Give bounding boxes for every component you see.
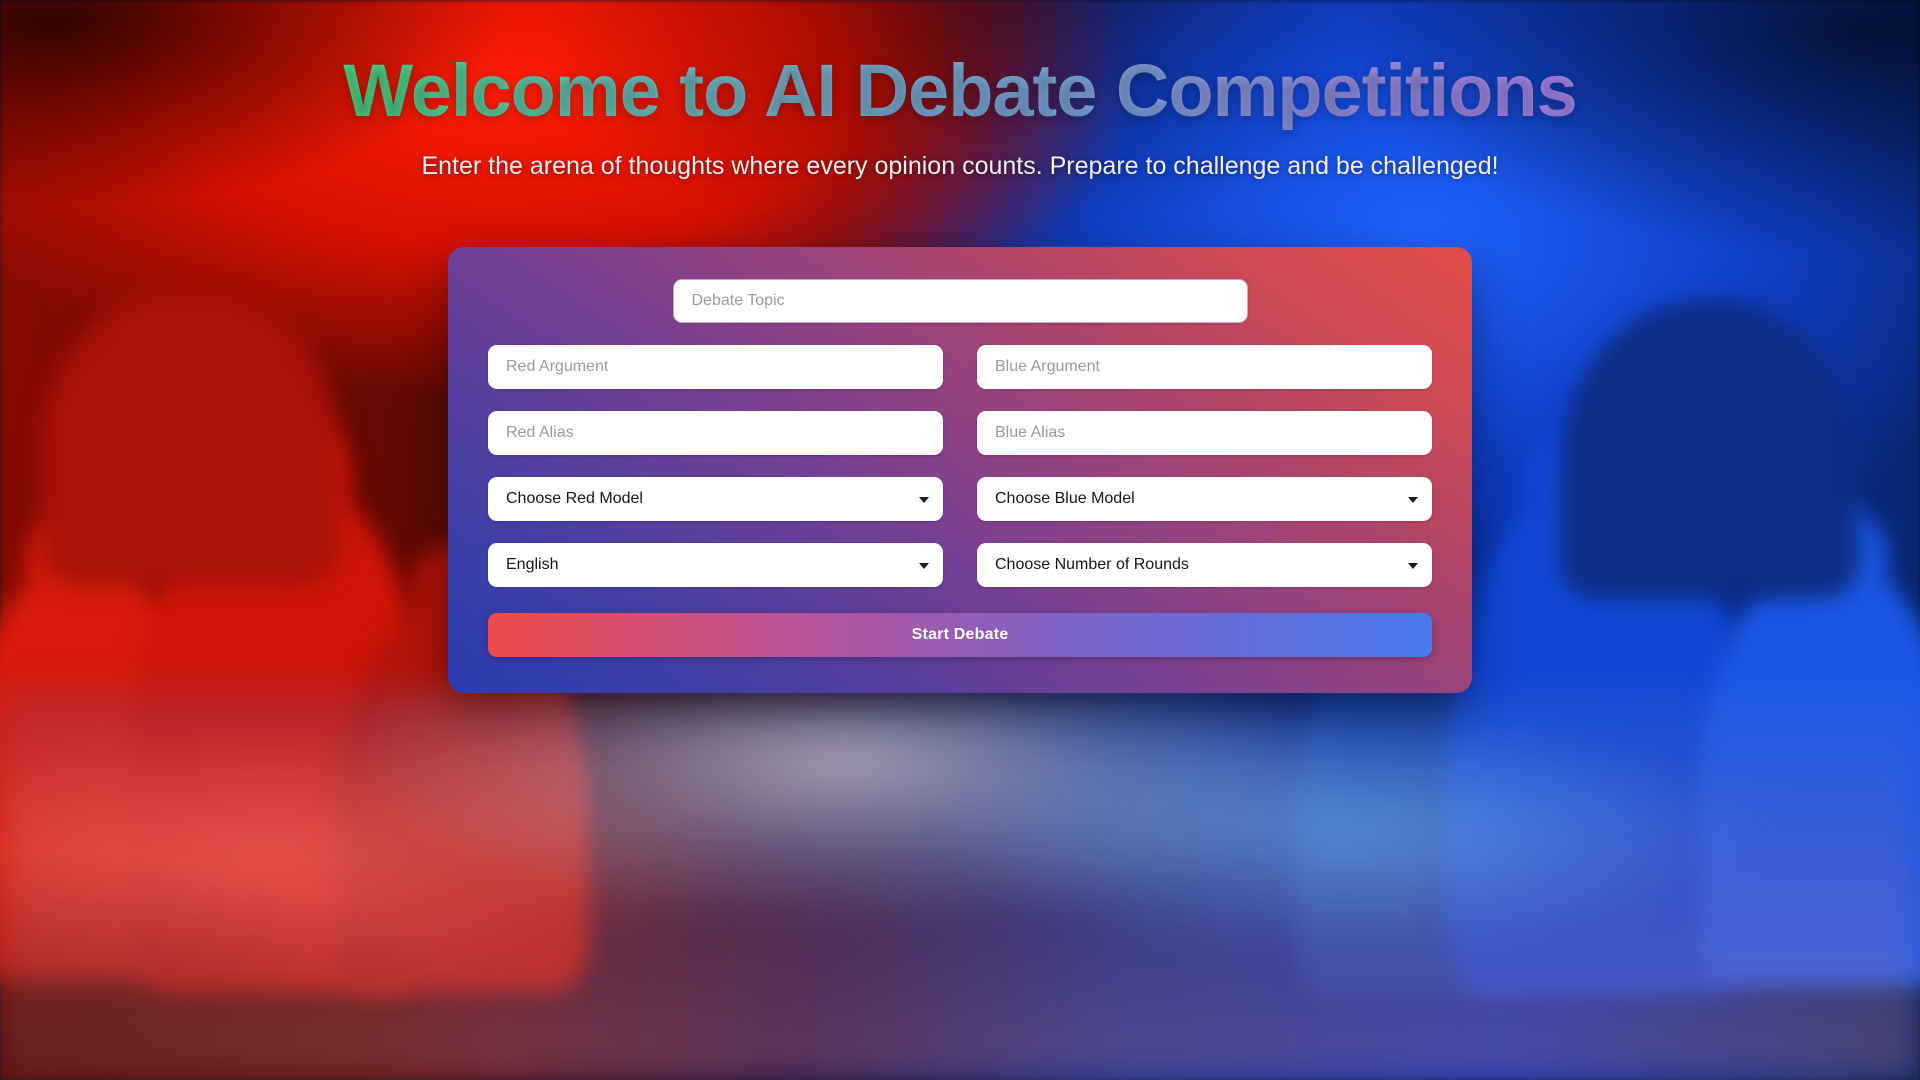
- red-argument-input[interactable]: [488, 345, 943, 389]
- blue-argument-input[interactable]: [977, 345, 1432, 389]
- red-argument-col: [488, 345, 943, 389]
- hero-section: Welcome to AI Debate Competitions Enter …: [0, 52, 1920, 181]
- rounds-select[interactable]: Choose Number of Rounds: [977, 543, 1432, 587]
- chevron-down-icon: [919, 563, 929, 569]
- page-subtitle: Enter the arena of thoughts where every …: [0, 152, 1920, 181]
- debate-setup-card: Choose Red Model Choose Blue Model Engli…: [448, 247, 1472, 693]
- language-selected-value: English: [488, 556, 592, 574]
- language-col: English: [488, 543, 943, 587]
- rounds-selected-value: Choose Number of Rounds: [977, 556, 1223, 574]
- red-model-col: Choose Red Model: [488, 477, 943, 521]
- alias-row: [488, 411, 1432, 455]
- red-alias-input[interactable]: [488, 411, 943, 455]
- red-alias-col: [488, 411, 943, 455]
- blue-model-col: Choose Blue Model: [977, 477, 1432, 521]
- page-title: Welcome to AI Debate Competitions: [0, 52, 1920, 130]
- argument-row: [488, 345, 1432, 389]
- red-model-selected-value: Choose Red Model: [488, 490, 677, 508]
- language-select[interactable]: English: [488, 543, 943, 587]
- page-background: Welcome to AI Debate Competitions Enter …: [0, 0, 1920, 1080]
- debate-topic-row: [488, 279, 1432, 323]
- blue-alias-input[interactable]: [977, 411, 1432, 455]
- rounds-col: Choose Number of Rounds: [977, 543, 1432, 587]
- chevron-down-icon: [1408, 497, 1418, 503]
- blue-model-selected-value: Choose Blue Model: [977, 490, 1169, 508]
- blue-argument-col: [977, 345, 1432, 389]
- chevron-down-icon: [919, 497, 929, 503]
- start-debate-button[interactable]: Start Debate: [488, 613, 1432, 657]
- debate-topic-input[interactable]: [673, 279, 1248, 323]
- red-model-select[interactable]: Choose Red Model: [488, 477, 943, 521]
- model-row: Choose Red Model Choose Blue Model: [488, 477, 1432, 521]
- blue-model-select[interactable]: Choose Blue Model: [977, 477, 1432, 521]
- language-rounds-row: English Choose Number of Rounds: [488, 543, 1432, 587]
- chevron-down-icon: [1408, 563, 1418, 569]
- blue-alias-col: [977, 411, 1432, 455]
